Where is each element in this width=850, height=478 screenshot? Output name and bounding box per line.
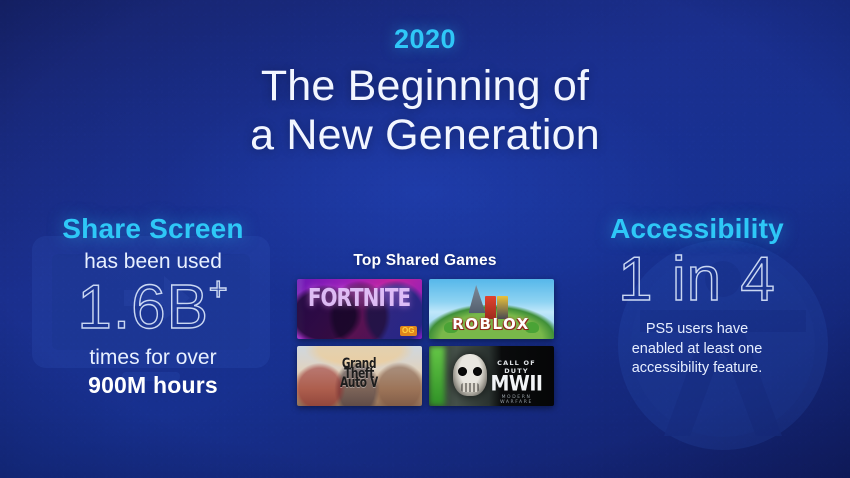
cod-logo-block: CALL OF DUTY MWII MODERN WARFARE — [486, 359, 548, 405]
share-screen-heading: Share Screen — [8, 214, 298, 243]
top-shared-games-grid: FORTNITE OG ROBLOX Grand Theft Auto V — [290, 279, 560, 406]
accessibility-body-line-1: PS5 users have — [552, 320, 842, 339]
cod-logo-sub-text: MODERN WARFARE — [486, 395, 548, 405]
gta-logo-text: Grand Theft Auto V — [297, 360, 422, 389]
accessibility-panel: Accessibility 1 in 4 PS5 users have enab… — [552, 214, 842, 378]
share-screen-panel: Share Screen has been used 1.6B+ times f… — [8, 214, 298, 398]
game-thumbnail-fortnite[interactable]: FORTNITE OG — [297, 279, 422, 339]
year-label: 2020 — [0, 26, 850, 53]
roblox-logo-text: ROBLOX — [429, 315, 554, 333]
accessibility-body: PS5 users have enabled at least one acce… — [552, 320, 842, 377]
cod-logo-main-text: MWII — [486, 374, 548, 395]
share-screen-line-after: times for over — [8, 346, 298, 370]
fortnite-og-badge: OG — [400, 326, 416, 336]
game-thumbnail-call-of-duty-mwii[interactable]: CALL OF DUTY MWII MODERN WARFARE — [429, 346, 554, 406]
share-screen-stat-bottom: 900M hours — [8, 373, 298, 398]
share-screen-stat-superscript: + — [209, 271, 229, 307]
page-title-line-1: The Beginning of — [0, 62, 850, 111]
accessibility-body-line-3: accessibility feature. — [552, 359, 842, 378]
accessibility-body-line-2: enabled at least one — [552, 340, 842, 359]
game-thumbnail-roblox[interactable]: ROBLOX — [429, 279, 554, 339]
share-screen-stat-number: 1.6B — [77, 273, 209, 342]
page-title: The Beginning of a New Generation — [0, 62, 850, 160]
infographic-slide: 2020 The Beginning of a New Generation S… — [0, 0, 850, 478]
cod-skull-teeth — [461, 383, 478, 392]
top-shared-games-heading: Top Shared Games — [290, 252, 560, 270]
cod-skull-mask-icon — [453, 354, 487, 396]
game-thumbnail-grand-theft-auto-v[interactable]: Grand Theft Auto V — [297, 346, 422, 406]
slide-header: 2020 The Beginning of a New Generation — [0, 26, 850, 160]
top-shared-games-panel: Top Shared Games FORTNITE OG ROBLOX Gran… — [290, 252, 560, 406]
share-screen-stat: 1.6B+ — [8, 273, 298, 339]
page-title-line-2: a New Generation — [0, 111, 850, 160]
fortnite-logo-text: FORTNITE — [297, 282, 422, 312]
accessibility-stat: 1 in 4 — [552, 249, 842, 311]
gta-logo-line-3: Auto V — [297, 377, 422, 390]
accessibility-heading: Accessibility — [552, 214, 842, 243]
share-screen-line-before: has been used — [8, 250, 298, 274]
